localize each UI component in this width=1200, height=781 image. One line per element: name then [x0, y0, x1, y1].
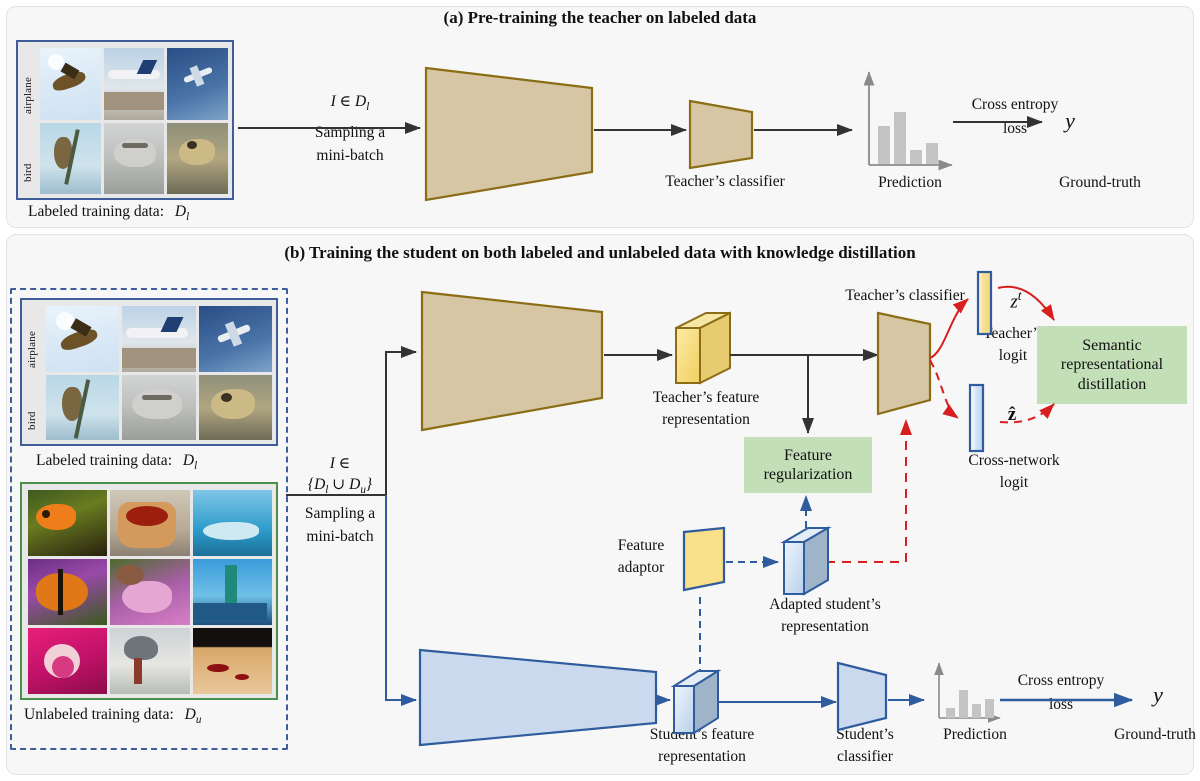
panel-b-sampling-expr-l2a: {D [308, 476, 325, 493]
panel-b-unlabeled-caption: Unlabeled training data: Du [24, 706, 201, 726]
panel-a-loss-line2: loss [955, 120, 1075, 138]
panel-a-data-symbol-sub: l [186, 211, 189, 223]
panel-b-unlabeled-image-grid [28, 490, 272, 694]
panel-b-teacher-feature-line1: Teacher’s feature [616, 389, 796, 407]
student-classifier-line2: classifier [810, 748, 920, 766]
panel-a-data-caption-text: Labeled training data: [28, 203, 164, 220]
panel-b-sampling-expr-end: } [366, 476, 372, 493]
row-label-bird: bird [26, 386, 38, 430]
image-cell [28, 628, 107, 694]
panel-a-teacher-extractor-sup: t [551, 133, 554, 145]
cross-network-logit-line2: logit [930, 474, 1098, 492]
row-label-bird: bird [22, 134, 34, 182]
panel-b-teacher-extractor-sup: t [554, 360, 557, 372]
panel-b-unlabeled-caption-text: Unlabeled training data: [24, 706, 174, 723]
image-cell [104, 48, 165, 120]
semantic-distillation-line2: representational [1061, 355, 1163, 374]
panel-a-image-grid [40, 48, 228, 194]
panel-a-ground-truth-label: Ground-truth [1035, 174, 1165, 192]
image-cell [28, 559, 107, 625]
feature-regularization-line1: Feature [764, 446, 853, 465]
panel-b-labeled-symbol: D [183, 452, 194, 469]
feature-regularization-line2: regularization [764, 465, 853, 484]
panel-b-unlabeled-data-box [20, 482, 278, 700]
panel-b-sampling-line1: Sampling a [284, 505, 396, 523]
student-extractor-sup: s [548, 701, 552, 713]
panel-b-labeled-caption: Labeled training data: Dl [36, 452, 197, 472]
panel-a-teacher-extractor-line1: Teacher’s feature [430, 110, 610, 128]
panel-a-sampling-line2: mini-batch [290, 147, 410, 165]
feature-regularization-box: Feature regularization [744, 437, 872, 493]
image-cell [104, 123, 165, 195]
snowflake-icon: ❄ [421, 303, 434, 318]
semantic-distillation-line1: Semantic [1061, 336, 1163, 355]
image-cell [122, 375, 195, 441]
image-cell [193, 490, 272, 556]
panel-b-labeled-image-grid [46, 306, 272, 440]
panel-b-loss-line2: loss [1000, 696, 1122, 714]
panel-a-teacher-extractor-line2: extractor ft [430, 133, 610, 153]
panel-b-sampling-expr-line1: I ∈ [288, 455, 392, 473]
image-cell [110, 490, 189, 556]
image-cell [167, 48, 228, 120]
panel-b-title: (b) Training the student on both labeled… [0, 243, 1200, 263]
semantic-distillation-line3: distillation [1061, 375, 1163, 394]
panel-b-teacher-extractor-line1: Teacher’s feature [433, 337, 613, 355]
panel-a-sampling-expr-sub: l [366, 101, 369, 113]
student-extractor-line2-text: extractor f [484, 703, 548, 720]
image-cell [199, 375, 272, 441]
panel-b-labeled-data-box: airplane bird [20, 298, 278, 446]
image-cell [122, 306, 195, 372]
panel-b-sampling-line2: mini-batch [284, 528, 396, 546]
student-extractor-line2: extractor fs [428, 701, 608, 721]
student-feature-line2: representation [612, 748, 792, 766]
figure-canvas: (a) Pre-training the teacher on labeled … [0, 0, 1200, 781]
snowflake-icon: ❄ [884, 322, 897, 337]
student-extractor-line1: Student’s feature [428, 678, 608, 696]
panel-a-teacher-classifier-caption: Teacher’s classifier [650, 173, 800, 191]
panel-b-unlabeled-symbol: D [185, 706, 196, 723]
image-cell [40, 123, 101, 195]
panel-b-sampling-expr-mid: ∪ D [328, 476, 360, 493]
student-classifier-line1: Student’s [810, 726, 920, 744]
panel-b-teacher-feature-line2: representation [616, 411, 796, 429]
feature-adaptor-label-line1: Feature [596, 537, 686, 555]
semantic-distillation-box: Semantic representational distillation [1037, 326, 1187, 404]
panel-b-loss-line1: Cross entropy [1000, 672, 1122, 690]
panel-b-sampling-expr-line1-text: I ∈ [330, 455, 351, 472]
row-label-airplane: airplane [26, 308, 38, 368]
image-cell [110, 559, 189, 625]
image-cell [199, 306, 272, 372]
panel-a-sampling-expr: I ∈ Dl [290, 93, 410, 114]
panel-a-data-caption: Labeled training data: Dl [28, 203, 189, 223]
panel-b-teacher-classifier-caption: Teacher’s classifier [820, 287, 990, 305]
panel-b-teacher-extractor-line2: extractor ft [433, 360, 613, 380]
panel-b-teacher-extractor-line2-text: extractor f [489, 362, 553, 379]
panel-b-labeled-symbol-sub: l [194, 460, 197, 472]
feature-adaptor-label-line2: adaptor [596, 559, 686, 577]
panel-b-sampling-expr-line2: {Dl ∪ Du} [288, 476, 392, 497]
panel-a-sampling-line1: Sampling a [290, 124, 410, 142]
cross-network-logit-line1: Cross-network [930, 452, 1098, 470]
panel-a-loss-line1: Cross entropy [955, 96, 1075, 114]
image-cell [40, 48, 101, 120]
panel-b-labeled-caption-text: Labeled training data: [36, 452, 172, 469]
panel-a-sampling-expr-main: I ∈ D [331, 93, 367, 110]
image-cell [193, 628, 272, 694]
image-cell [193, 559, 272, 625]
panel-a-title: (a) Pre-training the teacher on labeled … [0, 8, 1200, 28]
adapted-representation-line1: Adapted student’s [730, 596, 920, 614]
panel-b-unlabeled-symbol-sub: u [196, 714, 202, 726]
row-label-airplane: airplane [22, 52, 34, 114]
image-cell [167, 123, 228, 195]
student-feature-line1: Student’s feature [612, 726, 792, 744]
panel-a-data-symbol: D [175, 203, 186, 220]
panel-b-ground-truth-label: Ground-truth [1090, 726, 1200, 744]
panel-a-prediction-label: Prediction [855, 174, 965, 192]
image-cell [28, 490, 107, 556]
panel-a-labeled-data-box: airplane bird [16, 40, 234, 200]
image-cell [46, 375, 119, 441]
panel-b-prediction-label: Prediction [925, 726, 1025, 744]
panel-a-teacher-extractor-line2-text: extractor f [486, 135, 550, 152]
image-cell [110, 628, 189, 694]
adapted-representation-line2: representation [730, 618, 920, 636]
image-cell [46, 306, 119, 372]
